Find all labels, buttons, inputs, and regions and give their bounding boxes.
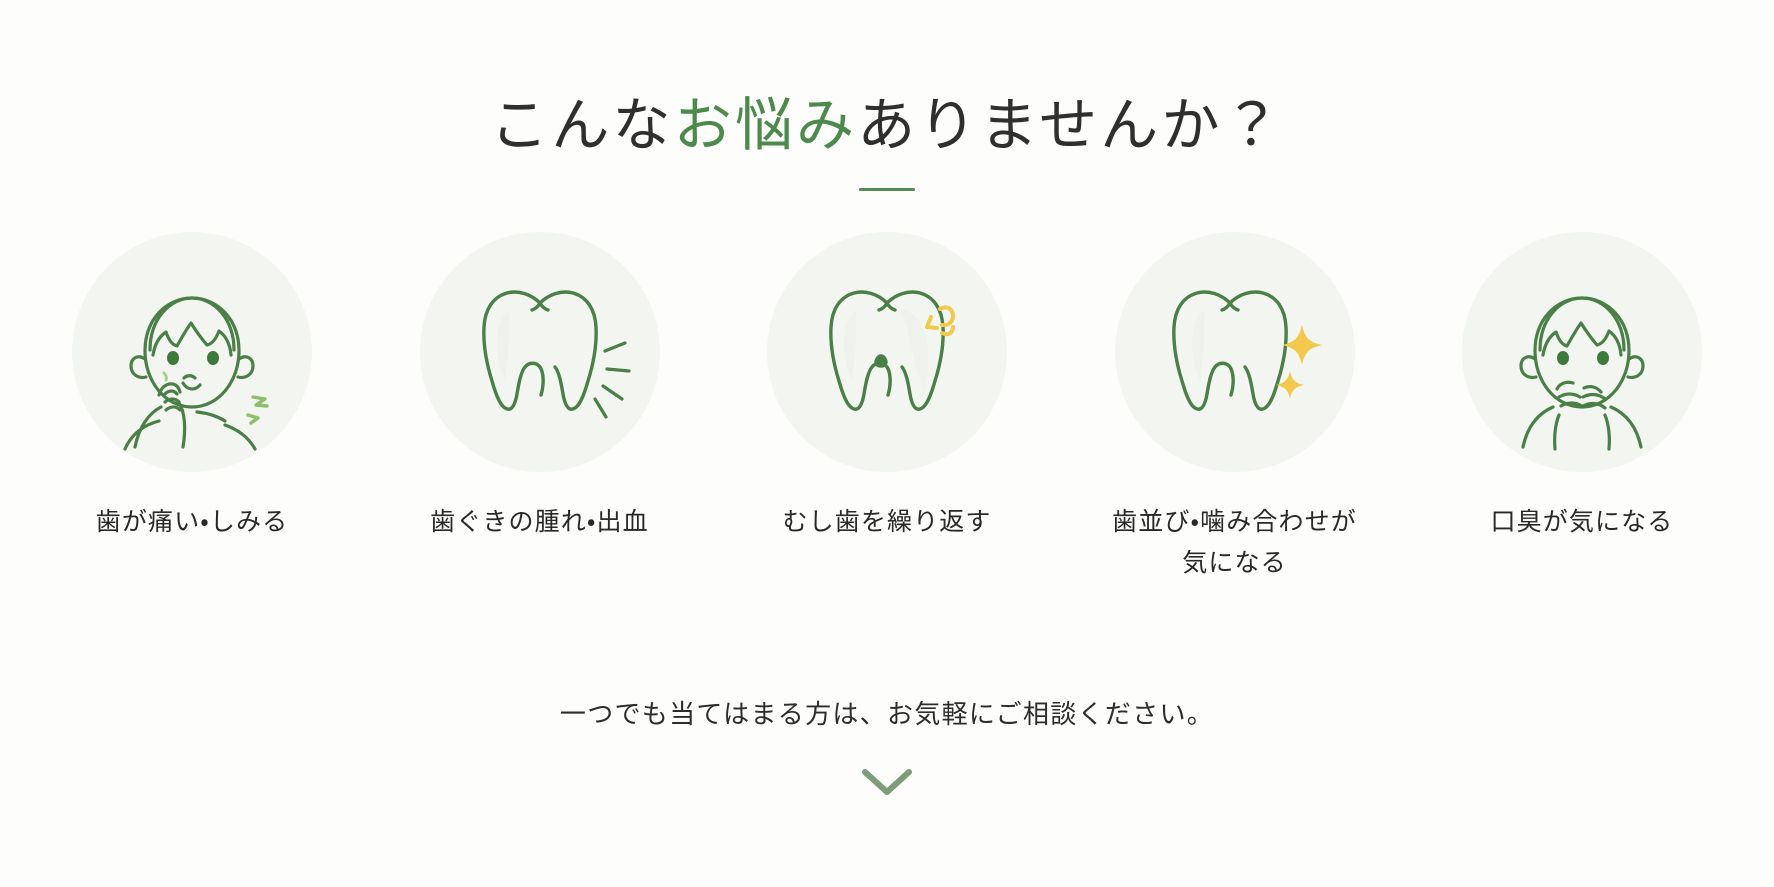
worry-card[interactable]: 歯ぐきの腫れ・出血 [390,232,690,544]
icon-circle [767,232,1007,472]
tooth-sparkle-alignment-icon [1130,247,1340,457]
page-title: こんなお悩みありませんか？ [0,92,1774,160]
heading-divider [859,188,915,191]
worry-card-label: むし歯を繰り返す [782,503,991,544]
worry-card-label: 歯ぐきの腫れ・出血 [430,503,649,544]
heading-suffix: ありませんか？ [857,93,1284,158]
icon-circle [420,232,660,472]
worry-card-label: 口臭が気になる [1491,503,1674,544]
worry-card[interactable]: 歯が痛い・しみる [42,232,342,544]
worry-card-label: 歯が痛い・しみる [96,503,289,544]
worry-card-label: 歯並び・噛み合わせが 気になる [1112,503,1357,584]
worry-card[interactable]: 歯並び・噛み合わせが 気になる [1085,232,1385,584]
worry-card[interactable]: むし歯を繰り返す [737,232,1037,544]
heading-accent: お悩み [674,93,858,158]
face-toothache-icon [87,247,297,457]
consult-note: 一つでも当てはまる方は、お気軽にご相談ください。 [0,694,1774,731]
chevron-down-icon[interactable] [857,762,917,802]
worries-section: こんなお悩みありませんか？ [0,0,1774,887]
icon-circle [72,232,312,472]
icon-circle [1115,232,1355,472]
heading-block: こんなお悩みありませんか？ [0,92,1774,191]
heading-prefix: こんな [490,93,674,158]
tooth-gum-swelling-icon [435,247,645,457]
worry-card-list: 歯が痛い・しみる [42,232,1732,584]
worry-card[interactable]: 口臭が気になる [1432,232,1732,544]
icon-circle [1462,232,1702,472]
tooth-cavity-repeat-icon [782,247,992,457]
face-bad-breath-icon [1477,247,1687,457]
